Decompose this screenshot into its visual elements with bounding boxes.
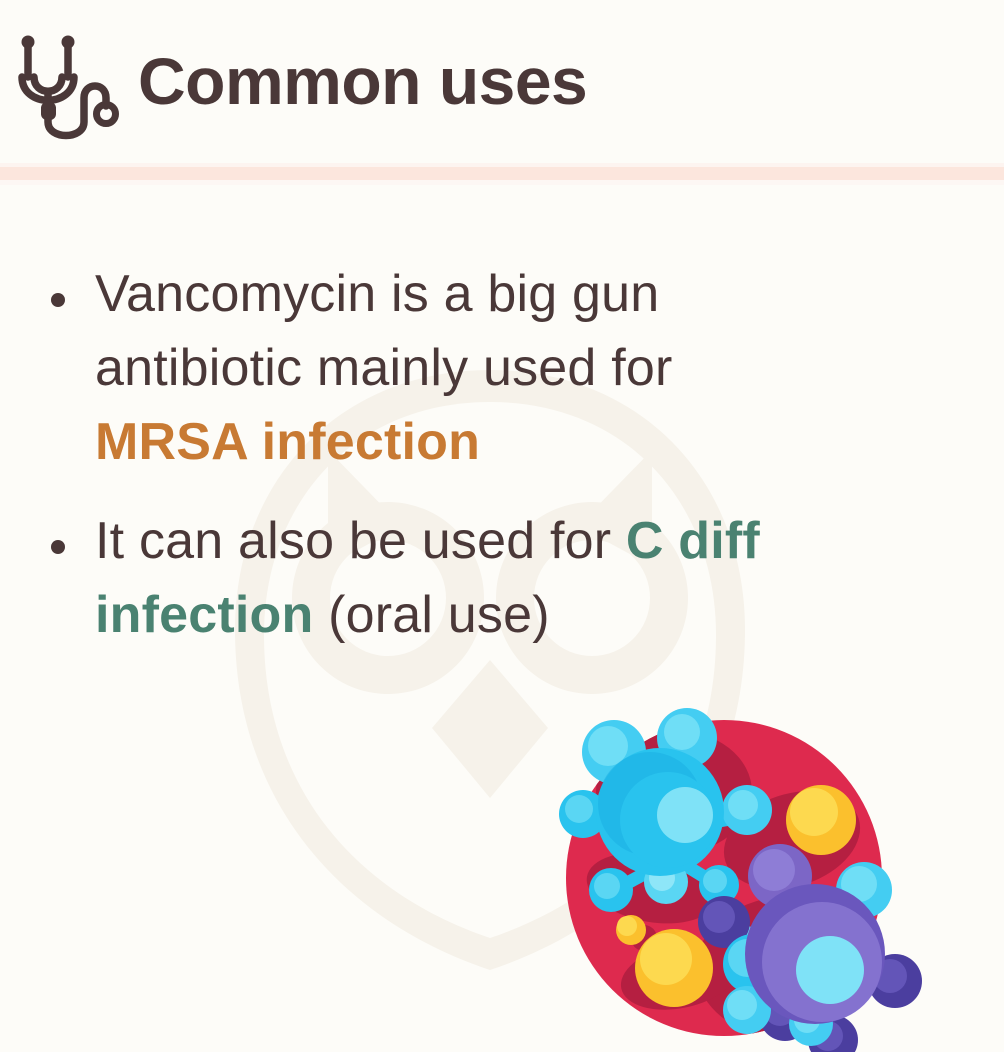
bullet-marker-icon: [51, 293, 65, 307]
content-area: Vancomycin is a big gun antibiotic mainl…: [0, 258, 940, 679]
header: Common uses: [0, 0, 1004, 168]
bullet-1-segment-normal: Vancomycin is a big gun antibiotic mainl…: [95, 265, 672, 397]
bullet-2-segment-normal: It can also be used for: [95, 512, 626, 570]
list-item: Vancomycin is a big gun antibiotic mainl…: [0, 258, 940, 479]
bullet-marker-icon: [51, 540, 65, 554]
page-title: Common uses: [138, 45, 587, 118]
bullet-text-2: It can also be used for C diff infection…: [95, 505, 940, 653]
bullet-1-segment-highlight: MRSA infection: [95, 413, 480, 471]
header-divider: [0, 167, 1004, 180]
list-item: It can also be used for C diff infection…: [0, 505, 940, 653]
stethoscope-icon: [10, 24, 130, 142]
bacteria-virus-illustration: [556, 700, 1004, 1052]
bullet-text-1: Vancomycin is a big gun antibiotic mainl…: [95, 258, 815, 479]
bullet-2-segment-tail: (oral use): [313, 586, 549, 644]
